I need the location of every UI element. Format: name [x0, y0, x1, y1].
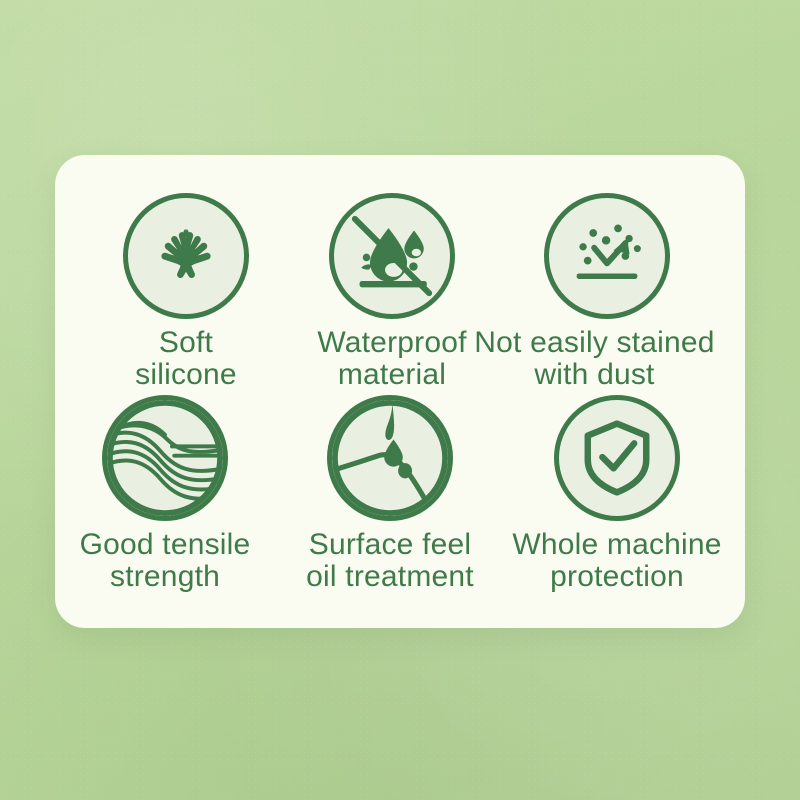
feature-grid: Soft silicone — [55, 155, 745, 628]
icon-badge — [327, 395, 453, 521]
feature-card: Soft silicone — [55, 155, 745, 628]
feature-label: Not easily stained with dust — [455, 327, 735, 391]
two-hands-squeeze-icon — [144, 214, 228, 298]
feature-item-whole-machine-protection[interactable]: Whole machine protection — [502, 395, 732, 593]
icon-badge — [329, 193, 455, 319]
feature-label: Whole machine protection — [487, 529, 747, 593]
icon-badge — [123, 193, 249, 319]
feature-item-soft-silicone[interactable]: Soft silicone — [71, 193, 301, 391]
water-drop-no-sign-icon — [334, 198, 450, 314]
feature-label: Soft silicone — [135, 327, 237, 391]
feature-label: Waterproof material — [317, 327, 466, 391]
feature-item-tensile-strength[interactable]: Good tensile strength — [50, 395, 280, 593]
icon-badge — [554, 395, 680, 521]
feature-item-oil-treatment[interactable]: Surface feel oil treatment — [275, 395, 505, 593]
feature-item-dust-resistant[interactable]: Not easily stained with dust — [492, 193, 722, 391]
icon-badge — [544, 193, 670, 319]
icon-badge — [102, 395, 228, 521]
feature-label: Good tensile strength — [35, 529, 295, 593]
woven-fibers-icon — [107, 395, 223, 521]
dust-particles-bounce-arrow-icon — [561, 210, 653, 302]
feature-label: Surface feel oil treatment — [260, 529, 520, 593]
shield-check-icon — [574, 415, 660, 501]
poster-canvas: Soft silicone — [0, 0, 800, 800]
oil-drop-on-surface-icon — [332, 395, 448, 521]
